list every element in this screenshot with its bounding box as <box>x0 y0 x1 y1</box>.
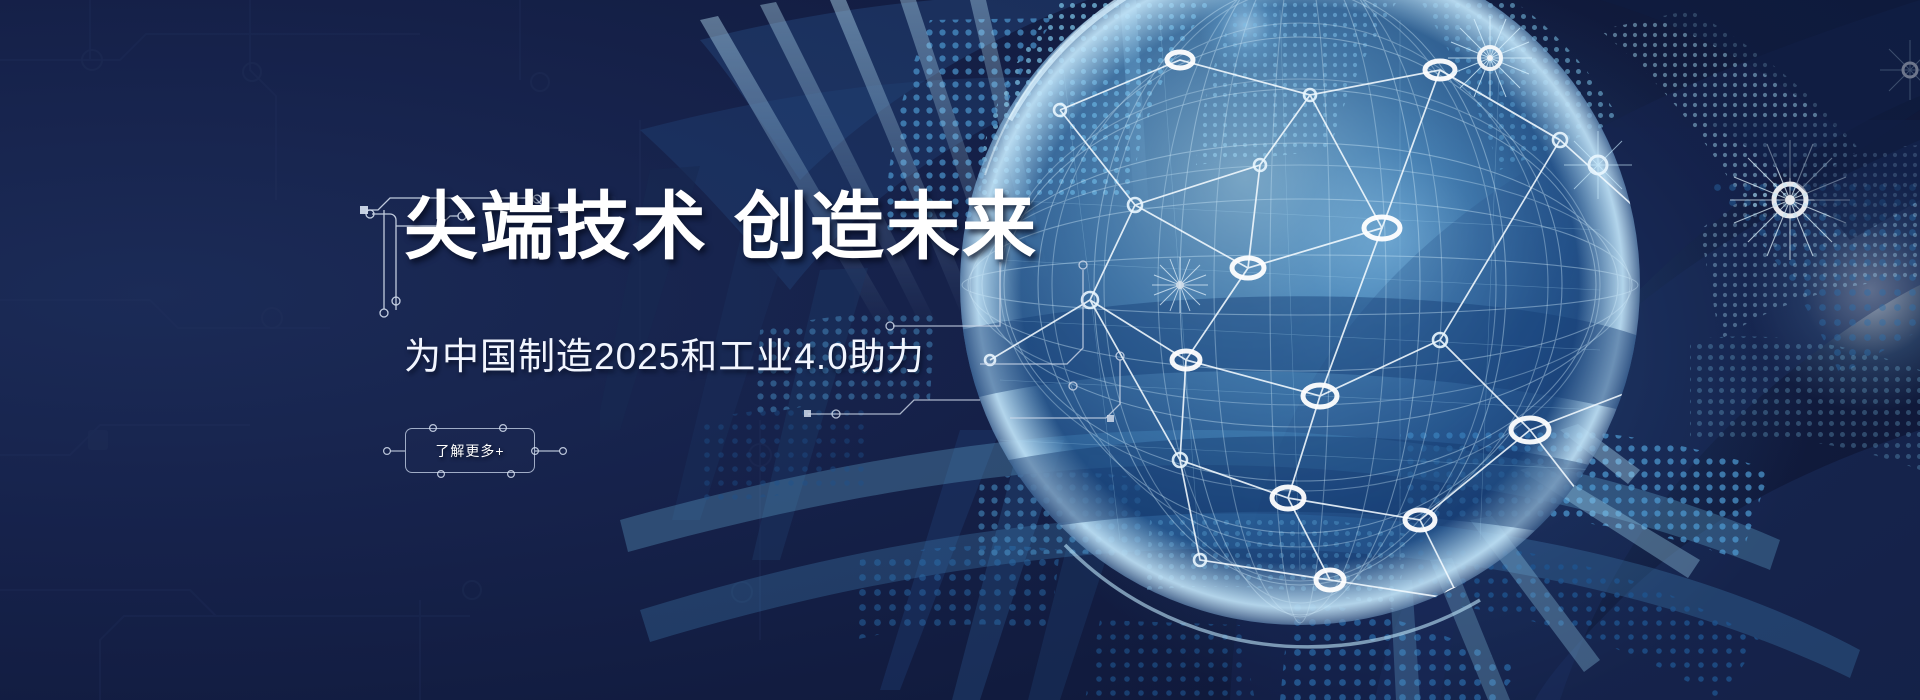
hero-copy: 尖端技术创造未来 为中国制造2025和工业4.0助力 了解 <box>0 0 960 700</box>
cta-decorated-frame: 了解更多+ <box>382 420 612 490</box>
page-subtitle: 为中国制造2025和工业4.0助力 <box>404 338 925 375</box>
hero-banner: 尖端技术创造未来 为中国制造2025和工业4.0助力 了解 <box>0 0 1920 700</box>
learn-more-button[interactable]: 了解更多+ <box>405 428 535 473</box>
headline-part-2: 创造未来 <box>734 185 1038 268</box>
page-title: 尖端技术创造未来 <box>404 190 1038 264</box>
headline-part-1: 尖端技术 <box>404 185 708 268</box>
